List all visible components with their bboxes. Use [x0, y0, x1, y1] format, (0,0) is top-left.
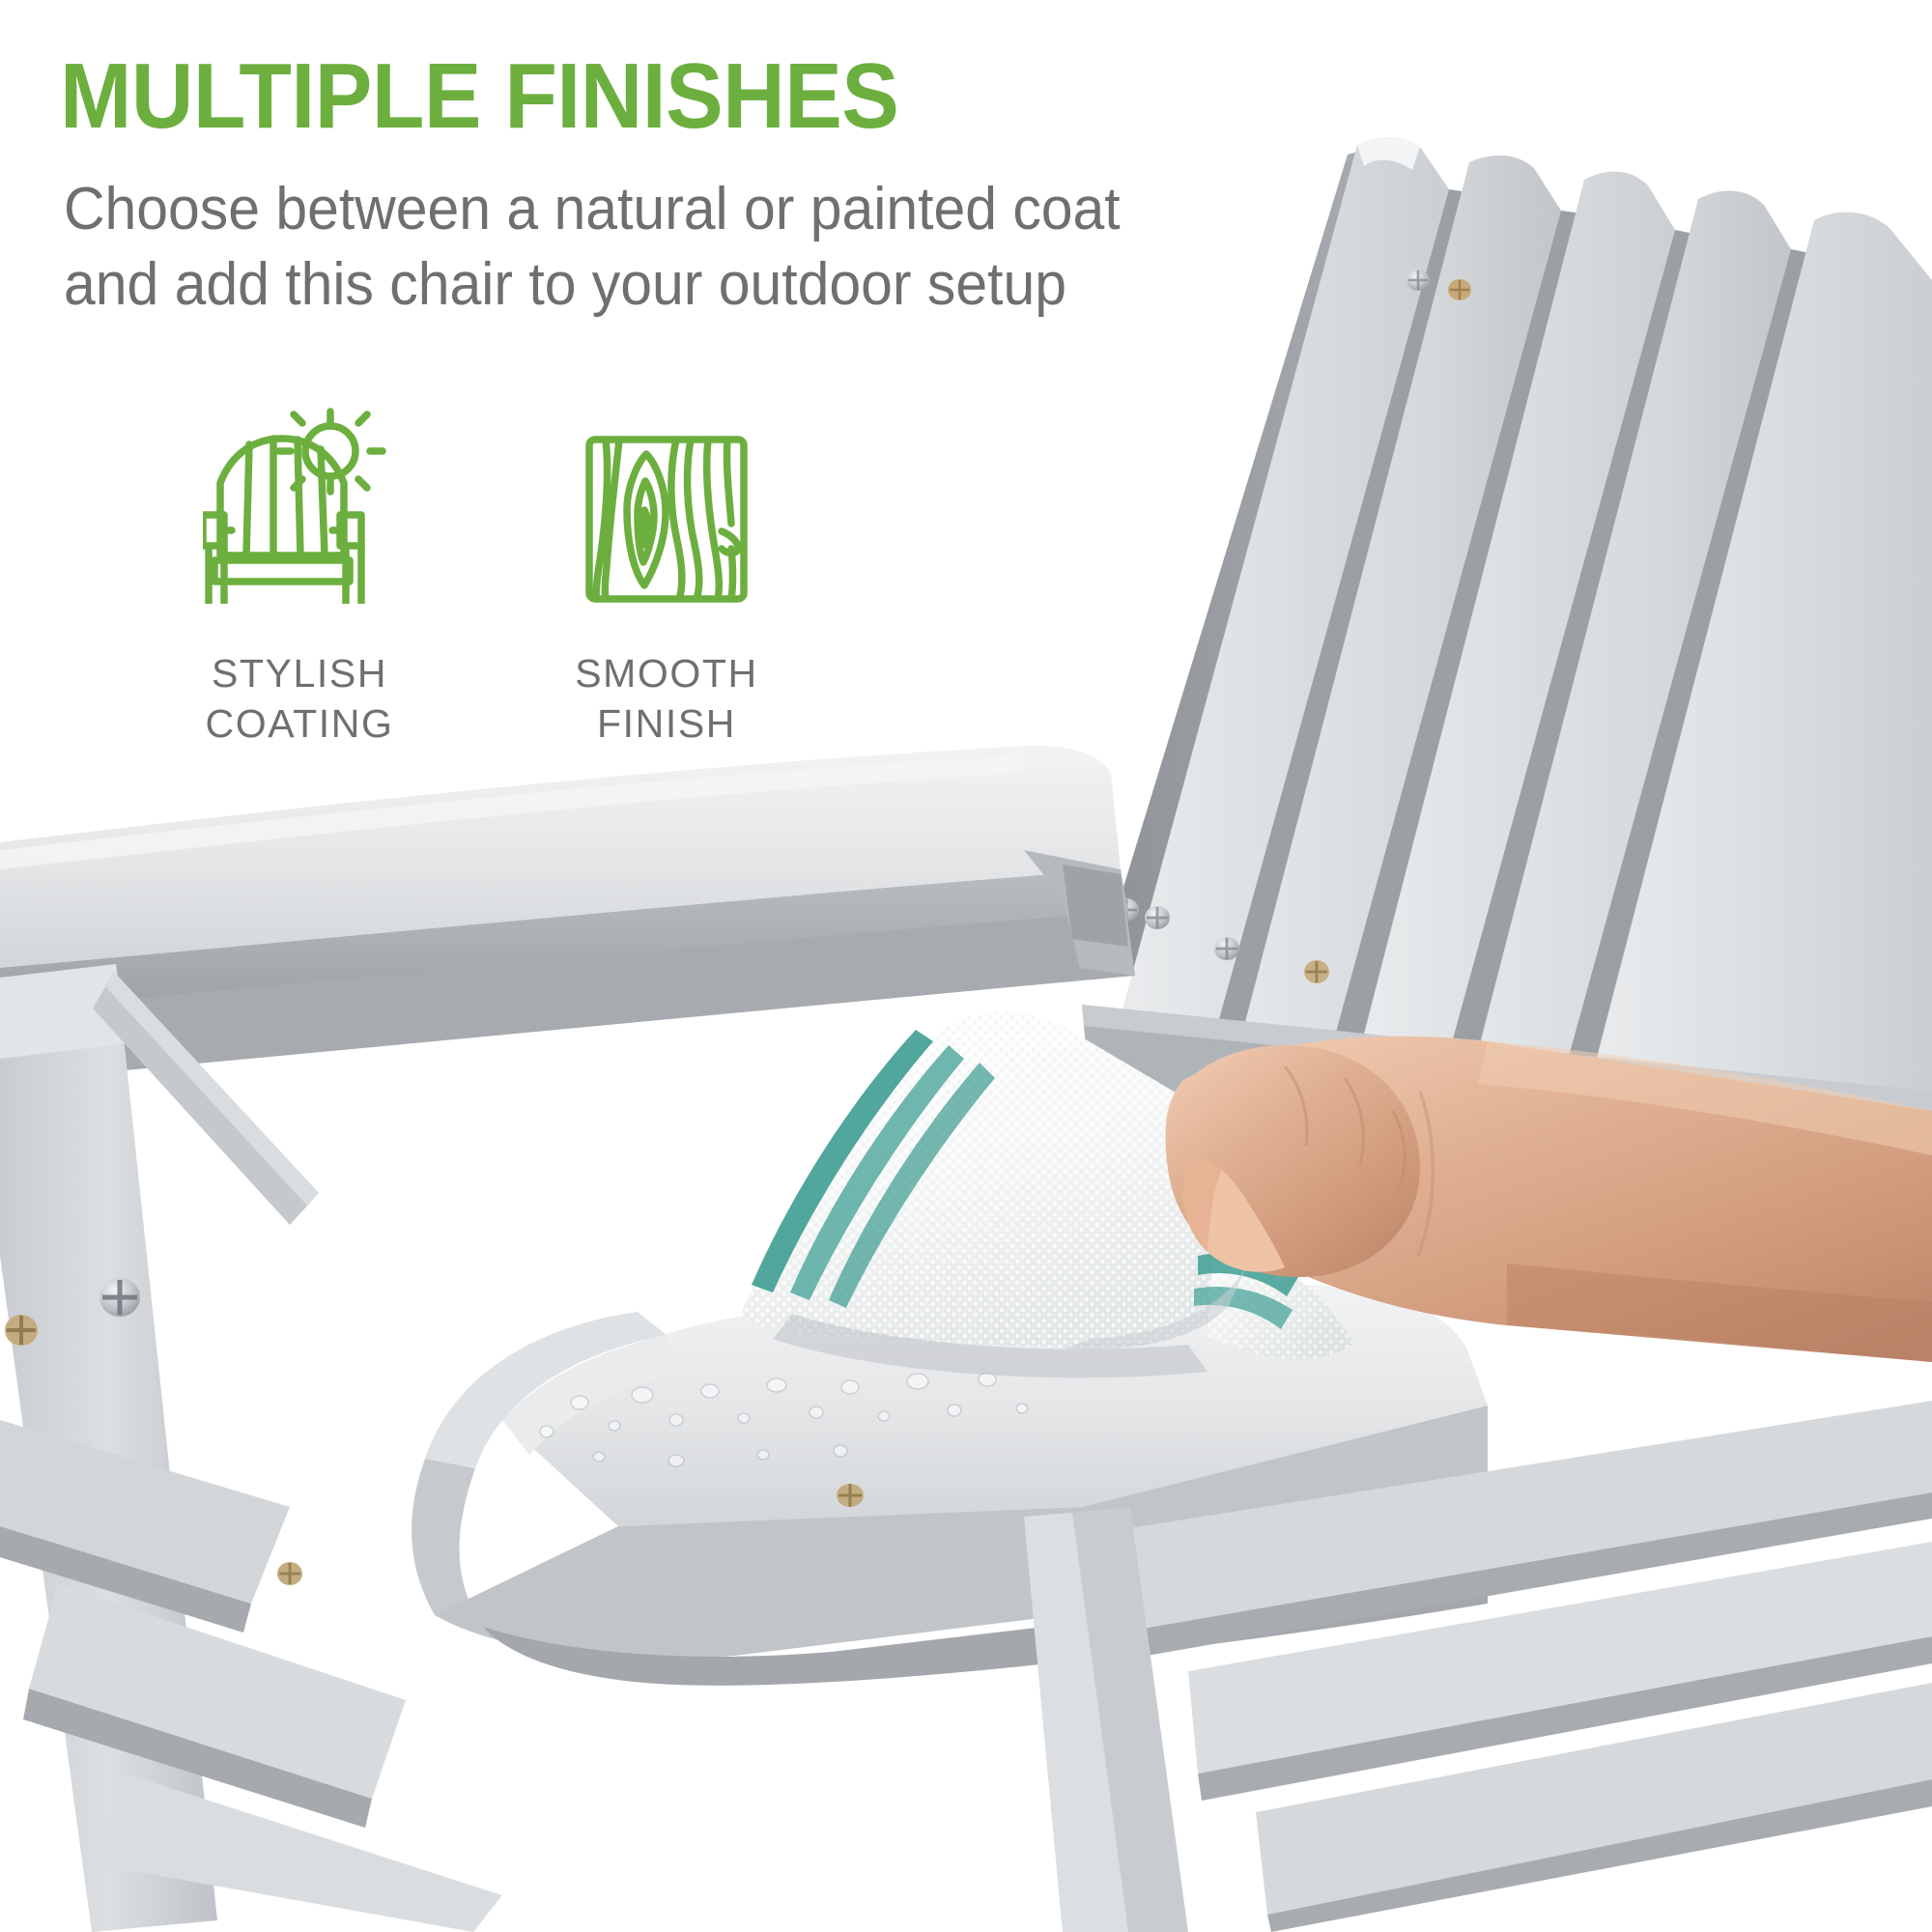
subtitle-line-2: and add this chair to your outdoor setup	[64, 247, 1121, 323]
feature-label: STYLISH COATING	[206, 648, 394, 750]
feature-smooth-finish: SMOOTH FINISH	[512, 401, 821, 750]
marketing-image: MULTIPLE FINISHES Choose between a natur…	[0, 0, 1932, 1932]
feature-list: STYLISH COATING	[145, 401, 821, 750]
adirondack-chair-sun-icon	[145, 401, 454, 604]
wood-grain-icon	[512, 401, 821, 604]
subtitle-line-1: Choose between a natural or painted coat	[64, 172, 1121, 247]
page-title: MULTIPLE FINISHES	[60, 50, 898, 143]
feature-label: SMOOTH FINISH	[575, 648, 758, 750]
page-subtitle: Choose between a natural or painted coat…	[64, 172, 1121, 323]
feature-stylish-coating: STYLISH COATING	[145, 401, 454, 750]
